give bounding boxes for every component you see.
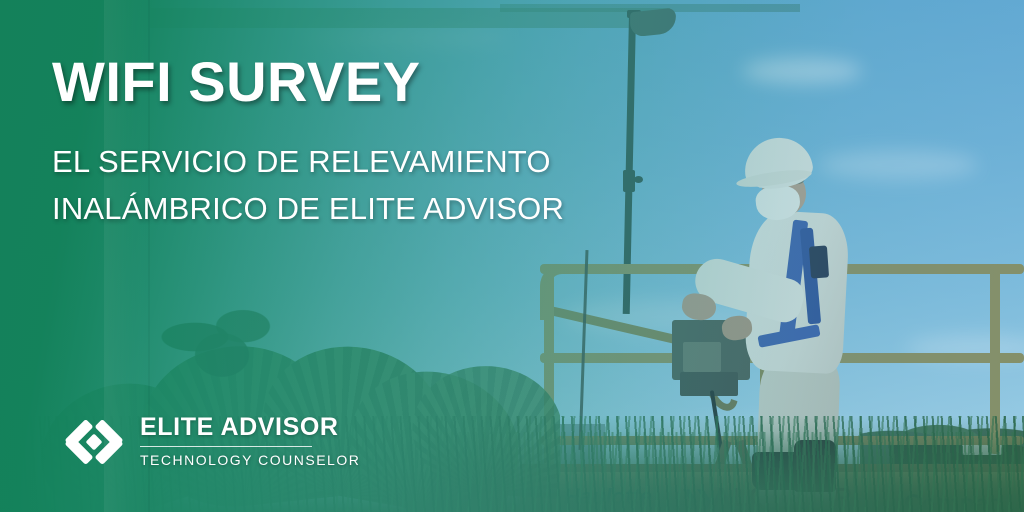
banner-content: WIFI SURVEY EL SERVICIO DE RELEVAMIENTO … [0, 0, 1024, 512]
page-subtitle: EL SERVICIO DE RELEVAMIENTO INALÁMBRICO … [52, 138, 564, 232]
logo-wordmark: ELITE ADVISOR TECHNOLOGY COUNSELOR [140, 412, 312, 469]
logo-divider [140, 446, 312, 447]
logo-tagline: TECHNOLOGY COUNSELOR [140, 451, 312, 469]
page-title: WIFI SURVEY [52, 50, 421, 114]
elite-advisor-logo[interactable]: ELITE ADVISOR TECHNOLOGY COUNSELOR [62, 406, 308, 480]
logo-name: ELITE ADVISOR [140, 412, 312, 442]
elite-advisor-diamond-mark-icon [62, 410, 126, 474]
subtitle-line-2: INALÁMBRICO DE ELITE ADVISOR [52, 185, 564, 232]
subtitle-line-1: EL SERVICIO DE RELEVAMIENTO [52, 138, 564, 185]
wifi-survey-banner: Haulotte ❯❯ ALQUILER Compac [0, 0, 1024, 512]
